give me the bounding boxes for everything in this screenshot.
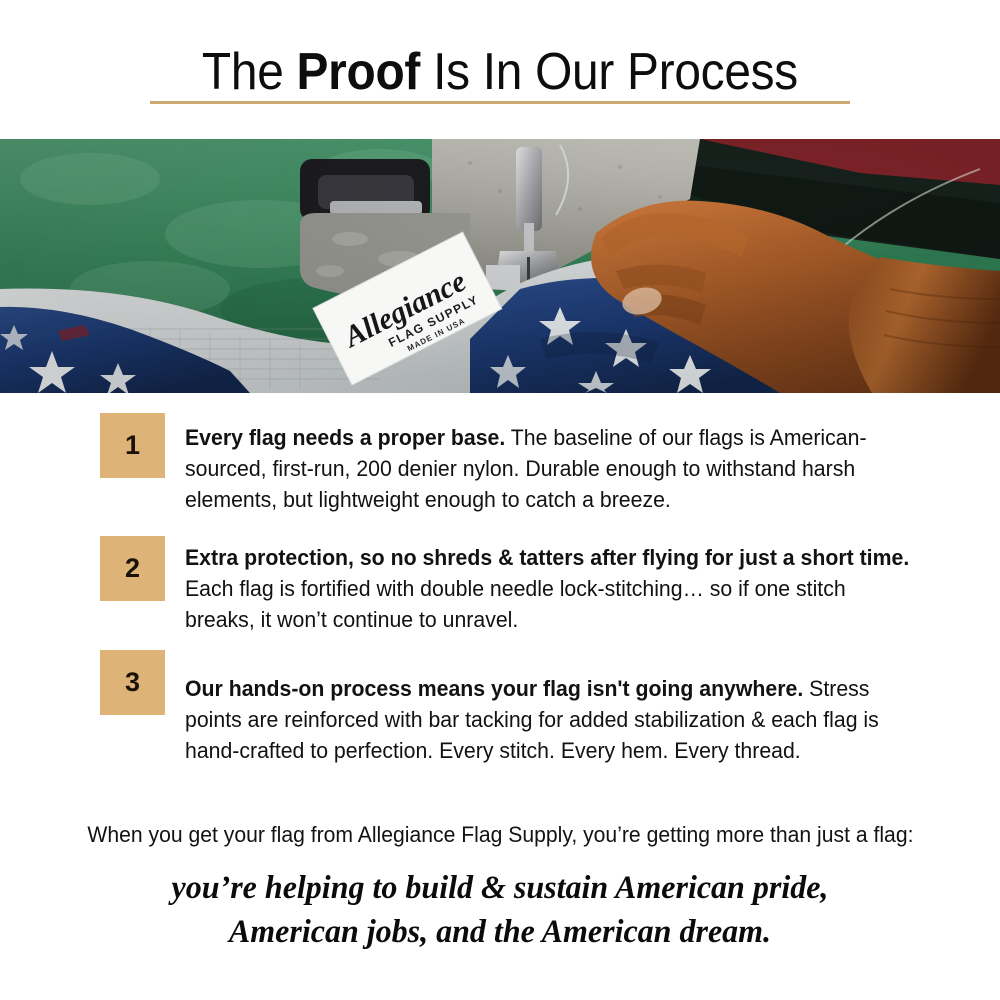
step-number-badge-3: 3 [100,650,165,715]
closing-intro-text: When you get your flag from Allegiance F… [87,820,913,850]
step-lead-1: Every flag needs a proper base. [185,425,505,450]
step-lead-3: Our hands-on process means your flag isn… [185,676,803,701]
closing-tagline-line-1: you’re helping to build & sustain Americ… [15,866,985,910]
step-number-badge-1: 1 [100,413,165,478]
closing-intro-line: When you get your flag from Allegiance F… [0,820,1000,850]
page-title-emphasis: Proof [297,43,421,101]
page-title: The Proof Is In Our Process [0,42,1000,102]
step-text-2: Extra protection, so no shreds & tatters… [185,542,913,635]
page-title-part2: Is In Our Process [420,43,798,101]
step-detail-2: Each flag is fortified with double needl… [185,576,846,632]
step-number-badge-2: 2 [100,536,165,601]
closing-tagline-line-2: American jobs, and the American dream. [15,910,985,954]
title-underline-rule [150,101,850,104]
step-text-3: Our hands-on process means your flag isn… [185,673,913,766]
process-photo-illustration: Allegiance FLAG SUPPLY MADE IN USA [0,139,1000,393]
step-lead-2: Extra protection, so no shreds & tatters… [185,545,909,570]
closing-tagline: you’re helping to build & sustain Americ… [0,866,1000,954]
process-infographic: The Proof Is In Our Process [0,0,1000,1000]
page-title-part1: The [202,43,297,101]
step-text-1: Every flag needs a proper base. The base… [185,422,913,515]
process-photo: Allegiance FLAG SUPPLY MADE IN USA [0,139,1000,393]
